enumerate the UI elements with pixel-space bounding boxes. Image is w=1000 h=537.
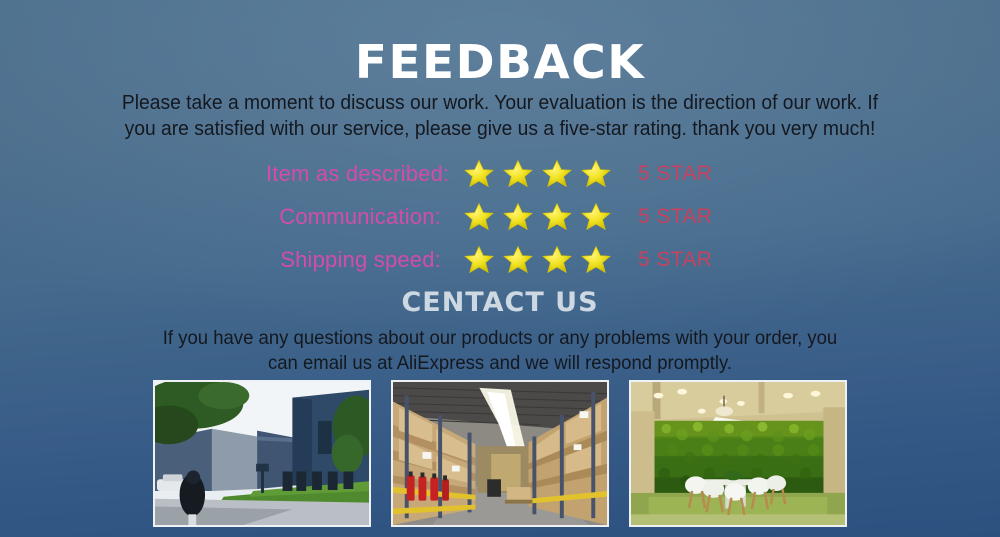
star-icon (502, 201, 534, 233)
star-icon (541, 244, 573, 276)
star-icon (580, 201, 612, 233)
star-rating-group (463, 158, 612, 190)
ratings-list: Item as described: 5 STAR Communication:… (0, 152, 1000, 281)
star-icon (463, 158, 495, 190)
rating-row: Item as described: 5 STAR (0, 152, 1000, 195)
rating-value: 5 STAR (638, 162, 734, 186)
photo-factory-exterior (153, 380, 371, 527)
rating-value: 5 STAR (638, 205, 734, 229)
rating-row: Shipping speed: 5 STAR (0, 238, 1000, 281)
feedback-banner: FEEDBACK Please take a moment to discuss… (0, 0, 1000, 537)
photo-warehouse-interior (391, 380, 609, 527)
rating-value: 5 STAR (638, 248, 734, 272)
star-icon (541, 201, 573, 233)
photo-office-green-wall (629, 380, 847, 527)
star-rating-group (463, 201, 612, 233)
rating-label: Item as described: (266, 161, 441, 187)
contact-heading: CENTACT US (0, 287, 1000, 319)
star-rating-group (463, 244, 612, 276)
star-icon (463, 244, 495, 276)
star-icon (463, 201, 495, 233)
page-title: FEEDBACK (0, 36, 1000, 88)
contact-paragraph: If you have any questions about our prod… (158, 326, 842, 376)
rating-label: Shipping speed: (266, 247, 441, 273)
rating-label: Communication: (266, 204, 441, 230)
photo-strip (153, 380, 847, 527)
star-icon (541, 158, 573, 190)
star-icon (502, 244, 534, 276)
rating-row: Communication: 5 STAR (0, 195, 1000, 238)
intro-paragraph: Please take a moment to discuss our work… (110, 90, 890, 142)
star-icon (502, 158, 534, 190)
star-icon (580, 244, 612, 276)
star-icon (580, 158, 612, 190)
